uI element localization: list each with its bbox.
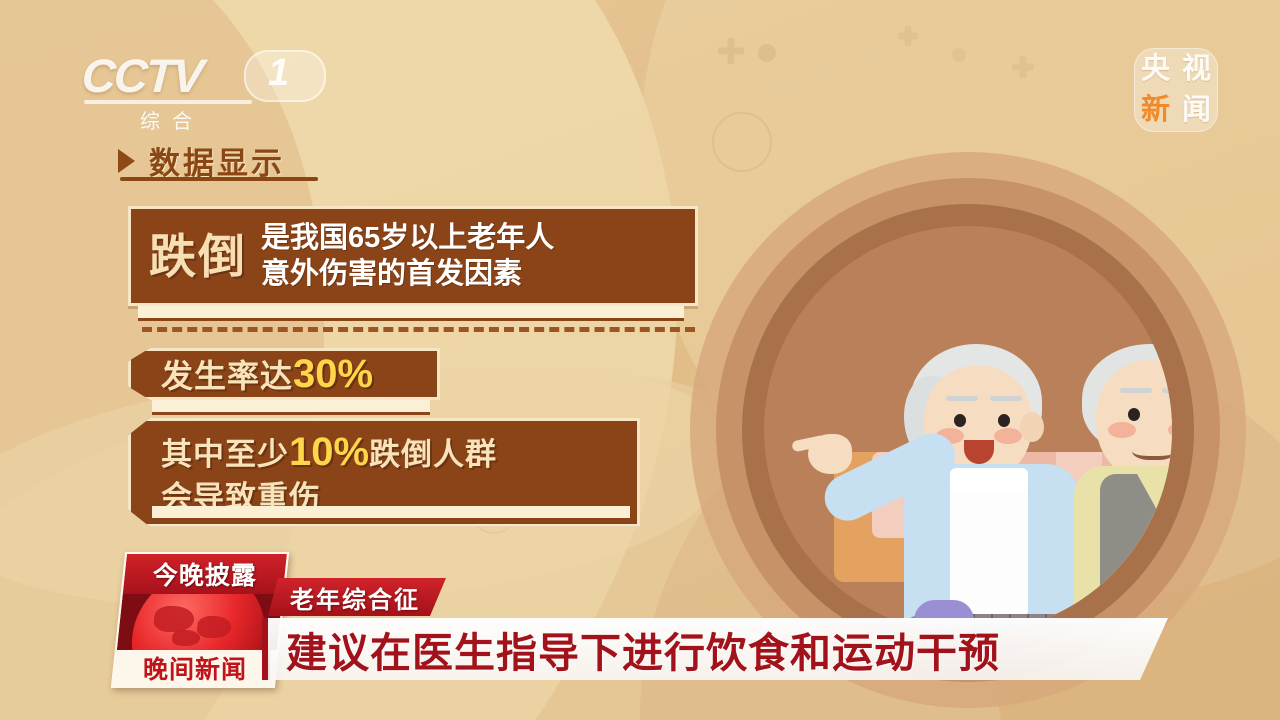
man-brow-left (1120, 388, 1152, 393)
stat-highlight-value: 10% (289, 427, 369, 478)
card-under-strip (152, 506, 630, 521)
headline-text: 建议在医生指导下进行饮食和运动干预 (286, 619, 1000, 679)
stat-card-rate: 发生率达 30% (128, 348, 440, 400)
channel-number: 1 (268, 52, 289, 95)
man-cheek-right (1168, 422, 1172, 438)
frame-inner-disc (764, 226, 1172, 634)
program-name: 晚间新闻 (143, 650, 247, 686)
cross-decoration-icon (1012, 56, 1034, 78)
man-mouth (1132, 438, 1172, 460)
stat-card-severe: 其中至少 10% 跌倒人群 会导致重伤 (128, 418, 640, 527)
watermark-char-accent: 新 (1141, 96, 1170, 125)
stat-line-1: 是我国65岁以上老年人 (261, 221, 554, 255)
man-cheek-left (1108, 422, 1136, 438)
woman-mouth (964, 440, 994, 464)
dashed-divider (142, 327, 695, 332)
cross-decoration-icon (718, 38, 744, 64)
cctv-channel-logo: CCTV 1 综合 (82, 48, 322, 126)
headline-bar: 建议在医生指导下进行饮食和运动干预 (268, 618, 1168, 680)
woman-cheek-right (994, 428, 1022, 444)
woman-ear (1020, 412, 1044, 442)
man-eye-left (1128, 408, 1140, 421)
woman-shirt (950, 472, 1028, 622)
topic-tab-label: 老年综合征 (290, 580, 420, 615)
logo-underline (84, 100, 252, 104)
triangle-right-icon (118, 149, 135, 173)
program-badge-top-label: 今晚披露 (153, 556, 257, 592)
section-underline (120, 177, 318, 181)
globe-icon (117, 594, 283, 650)
woman-brow-right (990, 396, 1022, 401)
stat-suffix: 跌倒人群 (369, 435, 497, 475)
topic-tab: 老年综合征 (268, 578, 446, 616)
stat-keyword: 跌倒 (149, 233, 247, 280)
card-under-strip (138, 306, 684, 321)
channel-name: 综合 (140, 105, 204, 134)
stat-card-plate: 跌倒 是我国65岁以上老年人 意外伤害的首发因素 (128, 206, 698, 306)
woman-eye-left (954, 414, 966, 427)
dot-decoration-icon (758, 44, 776, 62)
cctv-wordmark: CCTV (81, 48, 204, 103)
stat-prefix: 其中至少 (161, 435, 289, 475)
watermark-char: 视 (1182, 55, 1211, 84)
program-badge-bottom: 晚间新闻 (113, 650, 277, 686)
broadcast-frame: CCTV 1 综合 央 视 新 闻 (0, 0, 1280, 720)
man-brow-right (1162, 388, 1172, 393)
cross-decoration-icon (898, 26, 918, 46)
watermark-char: 央 (1141, 55, 1170, 84)
cctv-news-watermark: 央 视 新 闻 (1134, 48, 1218, 132)
stat-highlight-value: 30% (293, 352, 373, 397)
stat-card-fall: 跌倒 是我国65岁以上老年人 意外伤害的首发因素 (128, 206, 698, 306)
woman-eye-right (998, 414, 1010, 427)
stat-prefix: 发生率达 (161, 351, 293, 397)
watermark-char: 闻 (1182, 96, 1211, 125)
card-under-strip (152, 400, 430, 415)
program-badge-top: 今晚披露 (123, 554, 287, 594)
stat-card-plate: 发生率达 30% (128, 348, 440, 400)
woman-collar (950, 468, 1028, 494)
dot-decoration-icon (952, 48, 966, 62)
woman-brow-left (946, 396, 978, 401)
stat-line-2: 意外伤害的首发因素 (261, 257, 554, 291)
